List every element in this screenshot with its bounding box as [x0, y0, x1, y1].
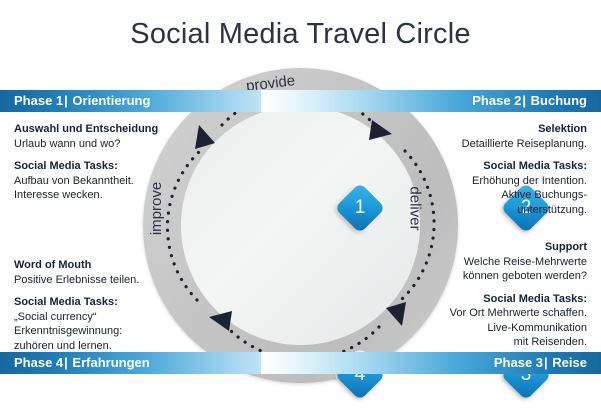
- phase-bar-2-number: Phase 2: [472, 93, 521, 108]
- phase-2-task-line: Erhöhung der Intention.: [412, 174, 587, 189]
- phase-4-task-line: „Social currency“: [14, 310, 189, 325]
- phase-bar-4-label: Phase 4| Erfahrungen: [14, 352, 150, 374]
- phase-3-task-line: mit Reisenden.: [407, 335, 587, 350]
- phase-3-content: Support Welche Reise-Mehrwerte können ge…: [407, 240, 587, 350]
- phase-1-task-line: Aufbau von Bekanntheit.: [14, 174, 179, 189]
- spacer: [412, 151, 587, 159]
- phase-bar-4-number: Phase 4: [14, 355, 63, 370]
- phase-4-heading: Word of Mouth: [14, 258, 189, 273]
- phase-3-task-line: Vor Ort Mehrwerte schaffen.: [407, 306, 587, 321]
- phase-3-tasks-label: Social Media Tasks:: [407, 292, 587, 307]
- phase-1-task-line: Interesse wecken.: [14, 188, 179, 203]
- phase-4-tasks-label: Social Media Tasks:: [14, 295, 189, 310]
- phase-2-task-line: unterstützung.: [412, 203, 587, 218]
- phase-bar-3-name: Reise: [552, 355, 587, 370]
- phase-bar-4-name: Erfahrungen: [72, 355, 149, 370]
- phase-bar-3-separator: |: [543, 355, 549, 370]
- spacer: [407, 284, 587, 292]
- phase-2-task-line: Aktive Buchungs-: [412, 188, 587, 203]
- phase-3-subtitle-2: können geboten werden?: [407, 269, 587, 284]
- phase-bar-2: Phase 2| Buchung: [261, 90, 601, 112]
- phase-bar-2-name: Buchung: [531, 93, 587, 108]
- phase-1-heading: Auswahl und Entscheidung: [14, 122, 179, 137]
- phase-bar-3-label: Phase 3| Reise: [494, 352, 587, 374]
- phase-bar-1-name: Orientierung: [72, 93, 150, 108]
- phase-4-content: Word of Mouth Positive Erlebnisse teilen…: [14, 258, 189, 353]
- phase-bar-1-number: Phase 1: [14, 93, 63, 108]
- phase-4-task-line: zuhören und lernen.: [14, 339, 189, 354]
- phase-node-1-number: 1: [342, 190, 378, 226]
- phase-bar-1-separator: |: [63, 93, 69, 108]
- phase-bar-2-separator: |: [521, 93, 527, 108]
- phase-1-content: Auswahl und Entscheidung Urlaub wann und…: [14, 122, 179, 203]
- phase-3-heading: Support: [407, 240, 587, 255]
- phase-2-content: Selektion Detaillierte Reiseplanung. Soc…: [412, 122, 587, 217]
- spacer: [14, 151, 179, 159]
- phase-bar-3-number: Phase 3: [494, 355, 543, 370]
- phase-bar-3: Phase 3| Reise: [261, 352, 601, 374]
- phase-3-task-line: Live-Kommunikation: [407, 321, 587, 336]
- phase-2-tasks-label: Social Media Tasks:: [412, 159, 587, 174]
- phase-node-1[interactable]: 1: [335, 183, 386, 234]
- phase-1-subtitle: Urlaub wann und wo?: [14, 137, 179, 152]
- infographic-canvas: Social Media Travel Circle provide deliv…: [0, 0, 601, 400]
- phase-2-subtitle: Detaillierte Reiseplanung.: [412, 137, 587, 152]
- phase-bar-2-label: Phase 2| Buchung: [472, 90, 587, 112]
- phase-bar-4-separator: |: [63, 355, 69, 370]
- phase-3-subtitle: Welche Reise-Mehrwerte: [407, 255, 587, 270]
- spacer: [14, 287, 189, 295]
- page-title: Social Media Travel Circle: [0, 18, 601, 51]
- phase-4-task-line: Erkenntnisgewinnung:: [14, 324, 189, 339]
- phase-4-subtitle: Positive Erlebnisse teilen.: [14, 273, 189, 288]
- phase-1-tasks-label: Social Media Tasks:: [14, 159, 179, 174]
- phase-2-heading: Selektion: [412, 122, 587, 137]
- phase-bar-1-label: Phase 1| Orientierung: [14, 90, 150, 112]
